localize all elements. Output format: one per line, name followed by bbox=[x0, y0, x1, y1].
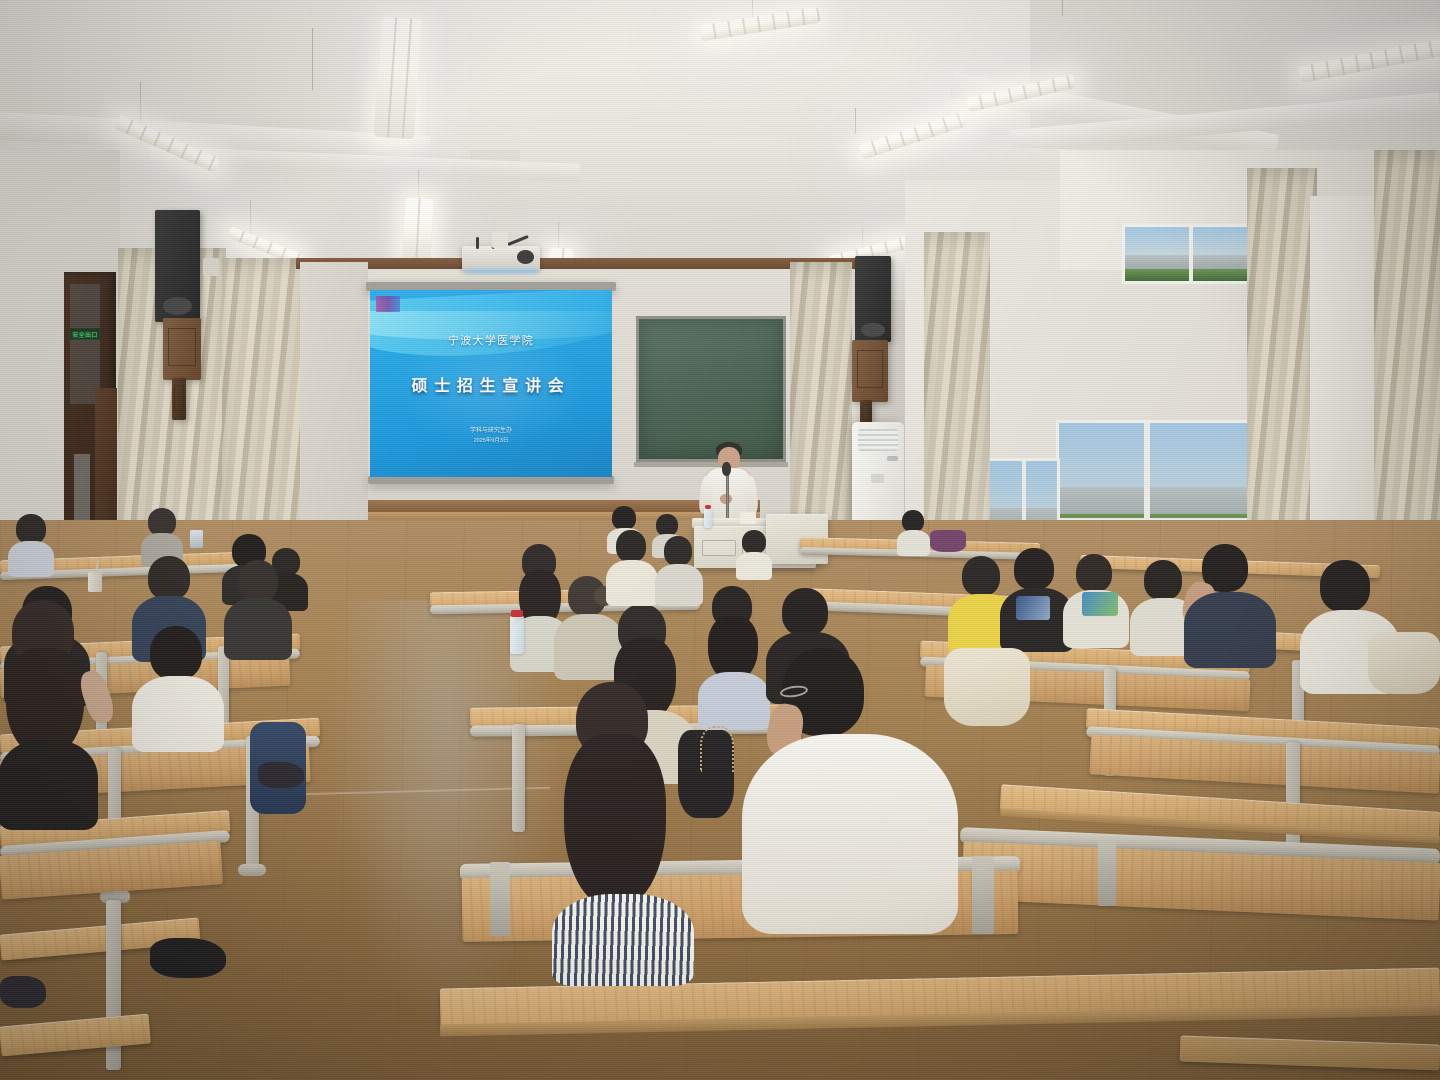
handbag-far bbox=[930, 530, 966, 552]
slide-title: 硕士招生宣讲会 bbox=[370, 372, 612, 396]
speaker-bracket bbox=[203, 258, 219, 276]
university-logo bbox=[376, 296, 400, 313]
microphone bbox=[722, 462, 731, 476]
podium-paper bbox=[740, 512, 756, 524]
wall-speaker-left-mount bbox=[172, 378, 186, 420]
ceiling-light-2 bbox=[374, 17, 422, 139]
exit-sign: 安全出口 bbox=[70, 328, 100, 340]
projection-screen: 宁波大学医学院 硕士招生宣讲会 学科与研究生办 2025年9月3日 bbox=[370, 290, 612, 477]
water-bottle-cap bbox=[511, 610, 523, 617]
beige-jacket bbox=[944, 648, 1030, 726]
tshirt-graphic-right-2 bbox=[1082, 592, 1118, 616]
front-wall-bottom-trim bbox=[300, 500, 760, 512]
bench-post-e1 bbox=[512, 724, 525, 832]
front-wall-top-trim bbox=[296, 258, 862, 269]
bench-row-g-bracket-2 bbox=[972, 856, 994, 934]
phone-raised bbox=[190, 530, 203, 548]
bench-row-g-bracket-1 bbox=[490, 862, 510, 936]
shoe-left-1 bbox=[150, 938, 226, 978]
beige-bag-right bbox=[1368, 632, 1440, 694]
wall-speaker-front-right bbox=[855, 256, 891, 342]
chalkboard bbox=[636, 316, 786, 462]
bench-foot-d2 bbox=[238, 864, 266, 876]
projection-screen-bottom-bar bbox=[368, 476, 614, 484]
projector-indicator bbox=[466, 268, 536, 274]
handbag-chain bbox=[700, 726, 734, 772]
projector-mount bbox=[492, 232, 508, 248]
slide-footer-office: 学科与研究生办 bbox=[370, 427, 612, 436]
clerestory-window bbox=[1122, 224, 1262, 284]
wall-left-of-screen bbox=[300, 262, 368, 552]
projector bbox=[462, 246, 540, 270]
water-bottle bbox=[510, 616, 524, 654]
shoe-left-3 bbox=[0, 976, 46, 1008]
slide-footer-date: 2025年9月3日 bbox=[370, 438, 612, 446]
wall-speaker-front-right-wood bbox=[852, 340, 888, 402]
exit-sign-label: 安全出口 bbox=[72, 330, 98, 339]
slide-organization: 宁波大学医学院 bbox=[370, 332, 612, 348]
ceiling-light-4 bbox=[402, 197, 433, 260]
lecture-hall-photo: 安全出口 宁波大学医学院 硕士招生宣讲会 学科与研究生办 2025年9月3日 bbox=[0, 0, 1440, 1080]
wall-speaker-left-wood bbox=[163, 318, 201, 380]
cup bbox=[88, 572, 102, 592]
tshirt-graphic-right bbox=[1016, 596, 1050, 620]
bench-row-f-bracket bbox=[1098, 840, 1116, 906]
shoe-left-2 bbox=[258, 762, 304, 788]
podium-bottle bbox=[704, 508, 712, 528]
podium-bottle-cap bbox=[705, 505, 711, 509]
wall-speaker-left bbox=[155, 210, 200, 322]
curtain-front-right[interactable] bbox=[790, 262, 852, 552]
